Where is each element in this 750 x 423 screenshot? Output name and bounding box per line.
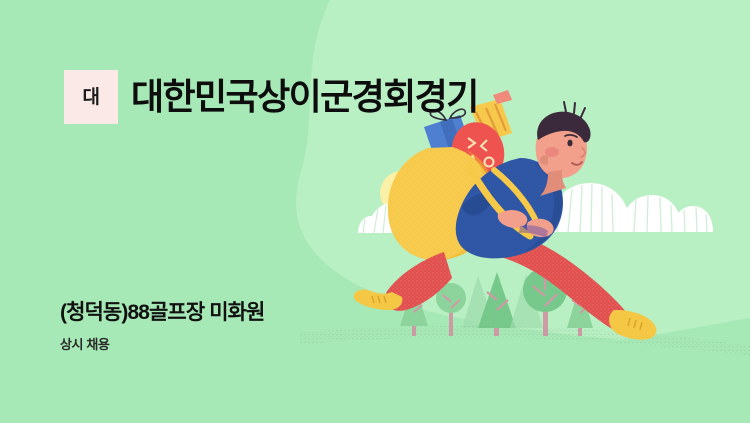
brand-row[interactable]: 대 대한민국상이군경회경기 (64, 70, 478, 124)
job-title: (청덕동)88골프장 미화원 (60, 300, 264, 326)
job-status-badge: 상시 채용 (60, 338, 264, 351)
company-title: 대한민국상이군경회경기 (131, 79, 478, 115)
brand-badge-logo: 대 (64, 70, 118, 124)
illustration-running-man-with-gift-sack (0, 0, 750, 423)
job-summary: (청덕동)88골프장 미화원 상시 채용 (60, 300, 264, 351)
job-posting-card: 대 대한민국상이군경회경기 (청덕동)88골프장 미화원 상시 채용 (0, 0, 750, 423)
